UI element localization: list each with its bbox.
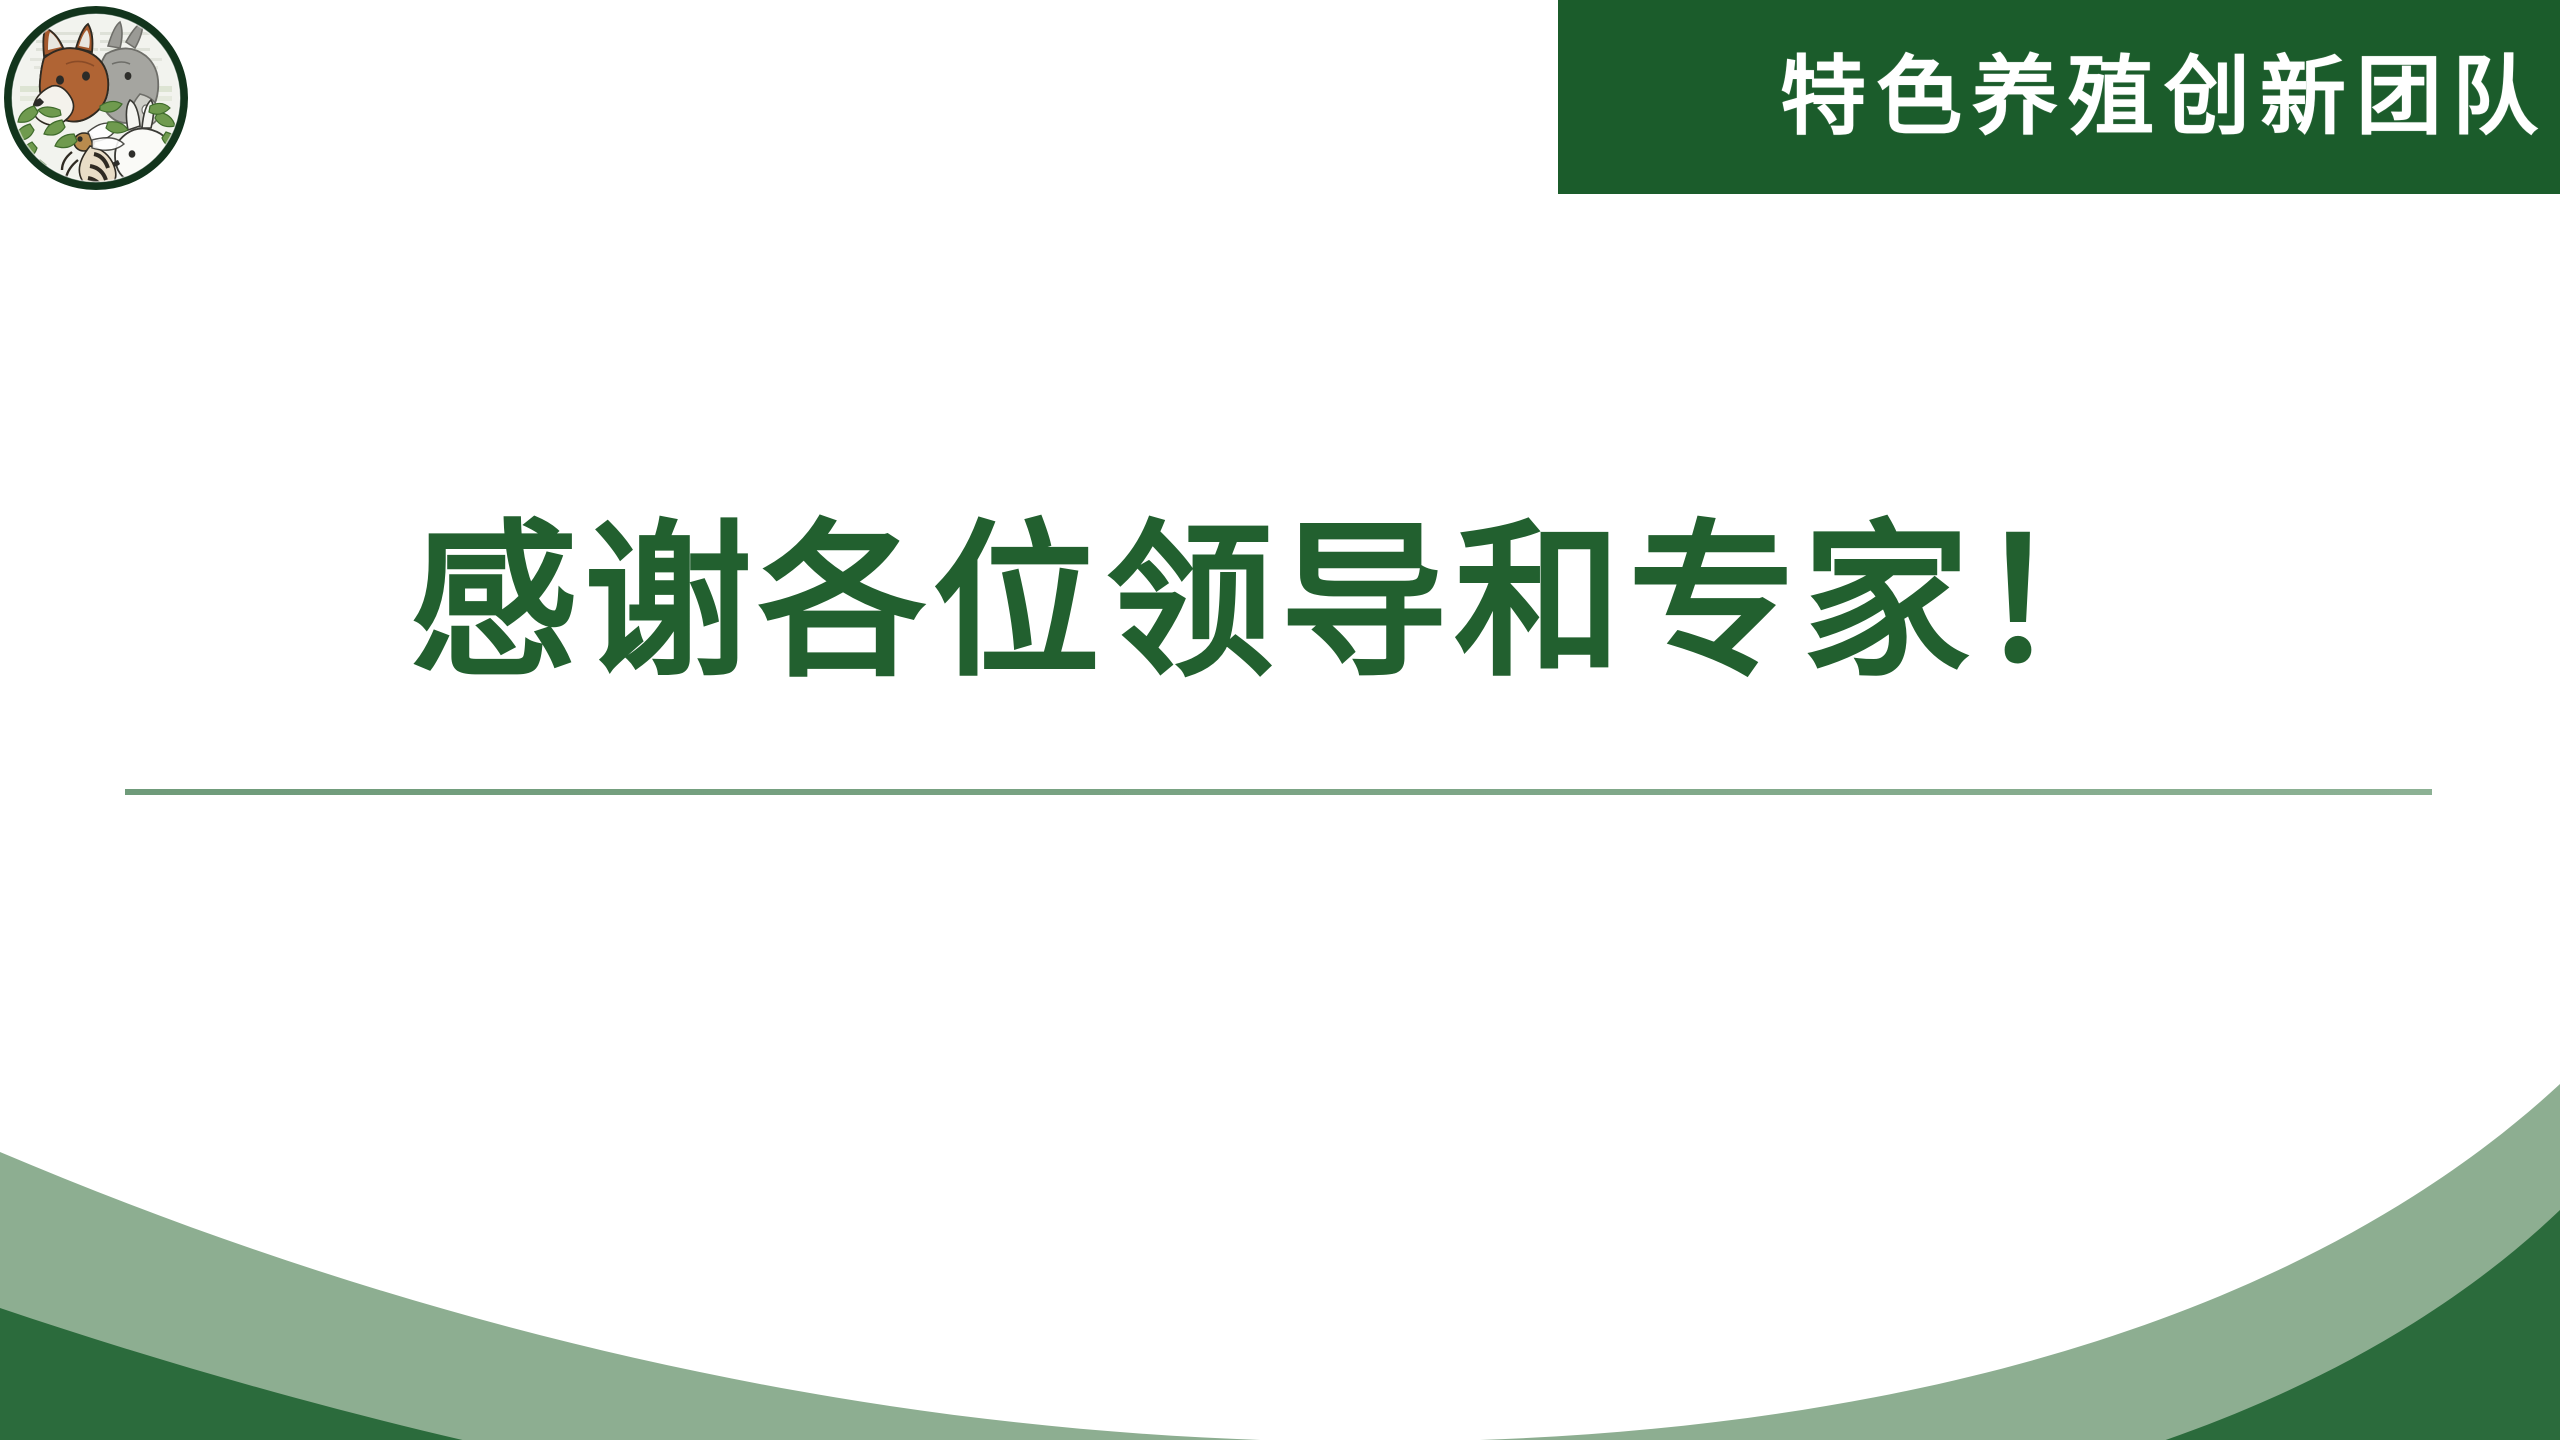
slide-canvas: 特色养殖创新团队 [0, 0, 2560, 1440]
team-emblem-logo [0, 2, 192, 194]
title-divider [125, 789, 2432, 795]
bottom-wave-decoration [0, 1020, 2560, 1440]
team-name-title: 特色养殖创新团队 [1780, 0, 2548, 194]
header-banner: 特色养殖创新团队 [1558, 0, 2560, 194]
page-title: 感谢各位领导和专家！ [0, 505, 2560, 700]
